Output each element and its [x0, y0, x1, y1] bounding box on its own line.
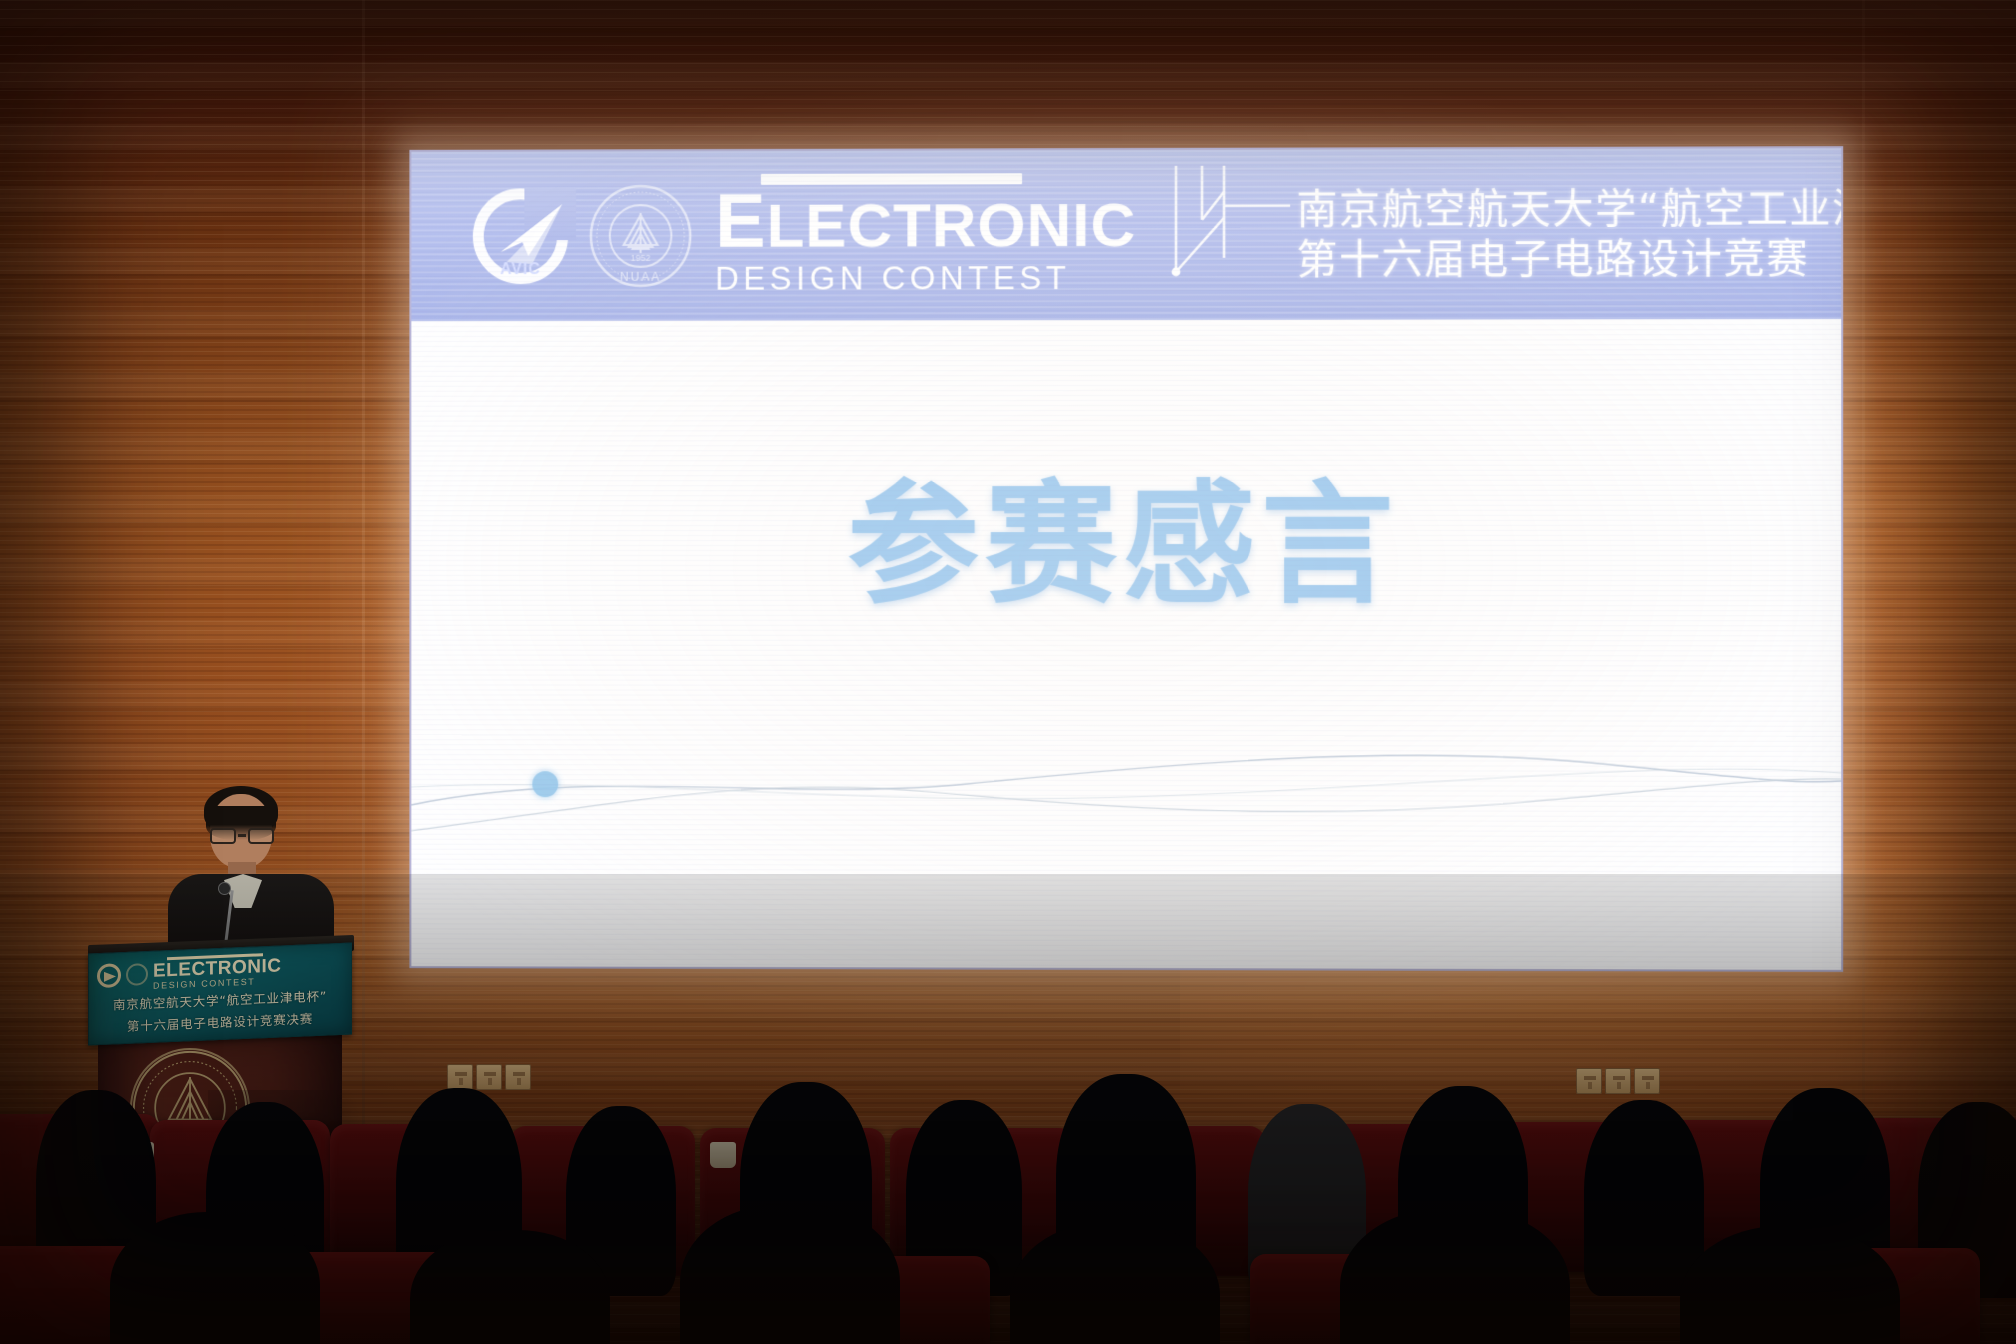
presentation-scene: AVIC 1952 NU	[0, 0, 2016, 1344]
eyeglasses-icon	[208, 828, 276, 844]
svg-text:NUAA: NUAA	[620, 270, 661, 284]
audience-member-front	[1340, 1208, 1570, 1344]
blue-dot-icon	[532, 771, 558, 797]
wordmark-electronic: ELECTRONIC	[715, 186, 1136, 257]
nuaa-university-seal-icon: 1952 NUAA	[588, 183, 693, 289]
wordmark-drop-cap: E	[715, 179, 766, 264]
audience-member-front	[410, 1230, 610, 1344]
audience-member-front	[680, 1204, 900, 1344]
circuit-trace-icon	[1162, 160, 1290, 310]
banner-title-line-1: 南京航空航天大学“航空工业津电杯”	[1297, 183, 1842, 235]
avic-wordmark: AVIC	[467, 261, 574, 279]
wordmark-rule	[761, 173, 1022, 185]
paper-cup-icon[interactable]	[710, 1142, 736, 1168]
svg-text:1952: 1952	[631, 253, 651, 263]
wordmark-design-contest: DESIGN CONTEST	[715, 259, 1136, 298]
audience-member-front	[1010, 1222, 1220, 1344]
slide-header-banner: AVIC 1952 NU	[411, 148, 1841, 321]
slide-main-title: 参赛感言	[411, 437, 1841, 629]
audience-member	[1584, 1100, 1704, 1296]
wordmark-rest: LECTRONIC	[767, 191, 1137, 261]
audience-member-front	[110, 1212, 320, 1344]
banner-title-line-2: 第十六届电子电路设计竞赛	[1297, 233, 1842, 284]
slide-body: 参赛感言	[411, 319, 1841, 970]
contest-wordmark: ELECTRONIC DESIGN CONTEST	[715, 173, 1136, 298]
projection-screen: AVIC 1952 NU	[409, 146, 1843, 972]
wave-lines-icon	[411, 709, 1841, 861]
avic-paper-plane-icon: AVIC	[467, 182, 574, 290]
banner-title-block: 南京航空航天大学“航空工业津电杯” 第十六届电子电路设计竞赛	[1297, 183, 1842, 285]
audience-area	[0, 874, 2016, 1344]
